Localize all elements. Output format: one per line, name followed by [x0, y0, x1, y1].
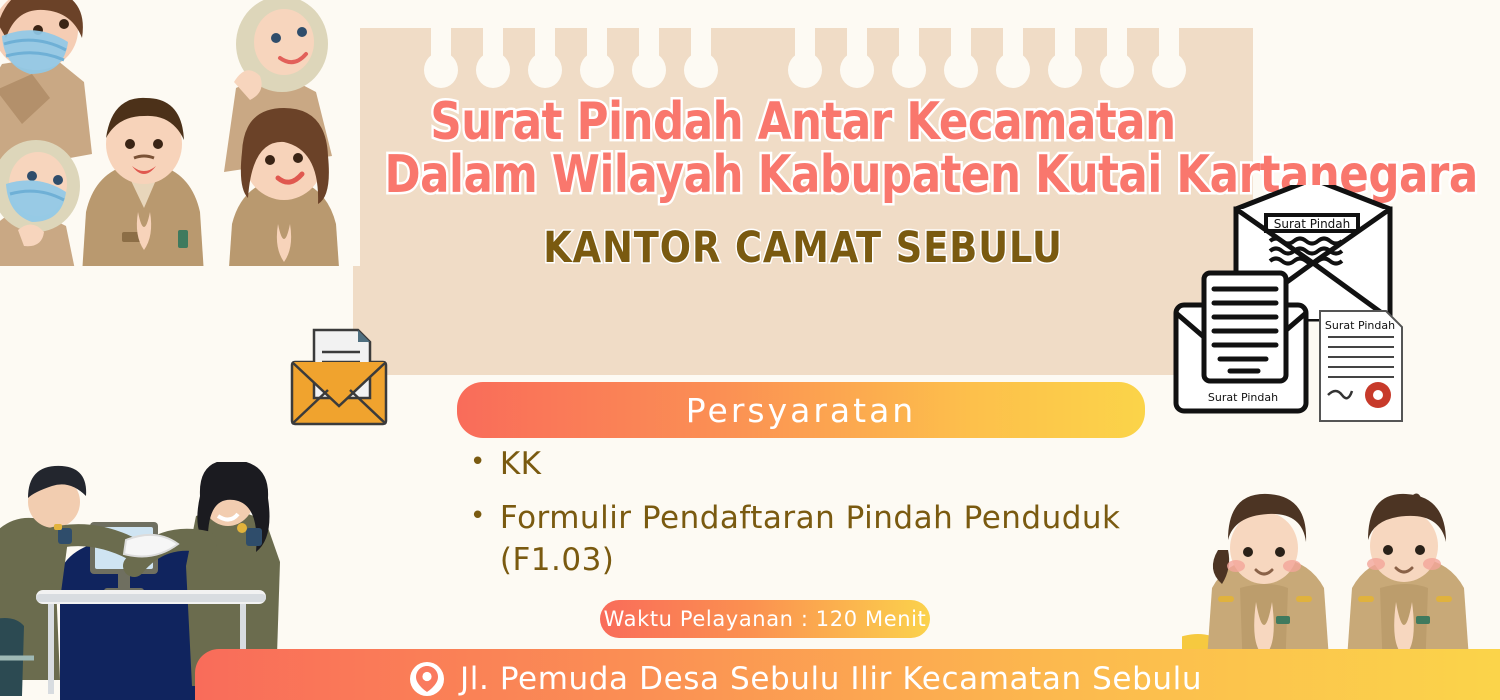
- requirement-label: Formulir Pendaftaran Pindah Penduduk (F1…: [500, 498, 1230, 582]
- spiral-hole: [899, 26, 919, 76]
- poster-title-line2: Dalam Wilayah Kabupaten Kutai Kartanegar…: [385, 151, 1222, 200]
- spiral-hole: [1055, 26, 1075, 76]
- document-label-envelope: Surat Pindah: [1274, 217, 1351, 231]
- location-pin-icon: [410, 662, 444, 696]
- spiral-hole: [1003, 26, 1023, 76]
- document-label-certificate: Surat Pindah: [1325, 319, 1395, 332]
- spiral-hole: [639, 26, 659, 76]
- spiral-hole: [795, 26, 815, 76]
- poster-title-line1: Surat Pindah Antar Kecamatan: [385, 98, 1222, 147]
- title-block: Surat Pindah Antar Kecamatan Dalam Wilay…: [353, 98, 1253, 273]
- service-time-label: Waktu Pelayanan : 120 Menit: [604, 607, 927, 631]
- spiral-hole: [1107, 26, 1127, 76]
- document-label-mail: Surat Pindah: [1208, 391, 1278, 404]
- requirement-item: •Formulir Pendaftaran Pindah Penduduk (F…: [470, 498, 1230, 582]
- spiral-hole: [535, 26, 555, 76]
- requirement-item: •KK: [470, 444, 1230, 486]
- spiral-hole: [587, 26, 607, 76]
- open-envelope-with-letter-icon: [288, 326, 390, 430]
- poster-canvas: Surat Pindah Antar Kecamatan Dalam Wilay…: [0, 0, 1500, 700]
- surat-pindah-documents-illustration: Surat Pindah Su: [1170, 185, 1438, 440]
- spiral-hole: [1159, 26, 1179, 76]
- requirements-list: •KK•Formulir Pendaftaran Pindah Penduduk…: [470, 444, 1230, 594]
- civil-servants-group-illustration: [0, 0, 360, 266]
- bullet-icon: •: [470, 498, 486, 536]
- bullet-icon: •: [470, 444, 486, 482]
- spiral-binding: [353, 28, 1253, 80]
- poster-subtitle: KANTOR CAMAT SEBULU: [376, 223, 1231, 273]
- requirement-label: KK: [500, 444, 542, 486]
- service-time-badge: Waktu Pelayanan : 120 Menit: [600, 600, 930, 638]
- address-label: Jl. Pemuda Desa Sebulu Ilir Kecamatan Se…: [460, 661, 1202, 697]
- spiral-hole: [847, 26, 867, 76]
- requirements-heading-bar: Persyaratan: [457, 382, 1145, 438]
- spiral-hole: [431, 26, 451, 76]
- spiral-hole: [483, 26, 503, 76]
- address-bar: Jl. Pemuda Desa Sebulu Ilir Kecamatan Se…: [195, 649, 1500, 700]
- spiral-hole: [691, 26, 711, 76]
- spiral-hole: [951, 26, 971, 76]
- requirements-heading-label: Persyaratan: [686, 391, 916, 430]
